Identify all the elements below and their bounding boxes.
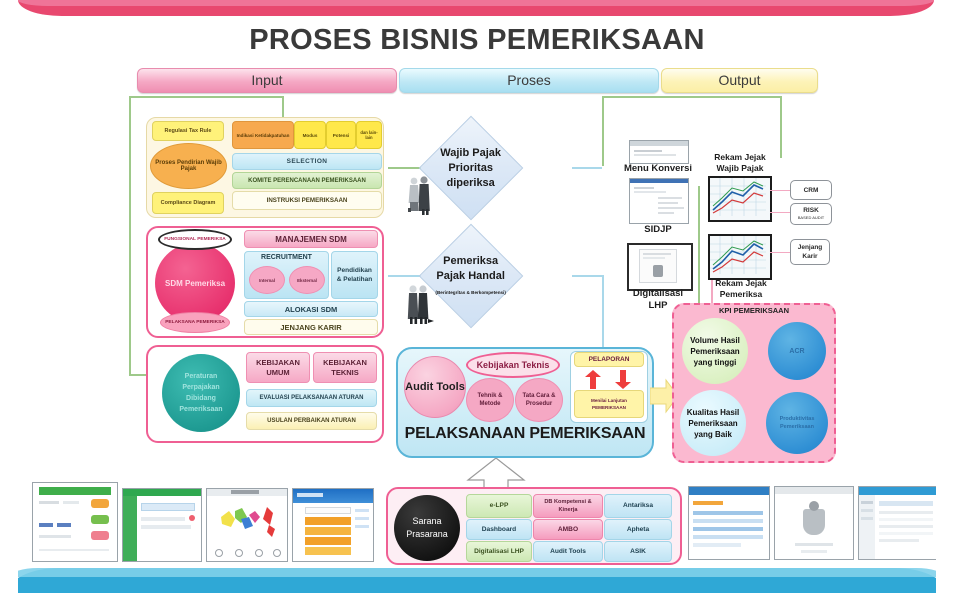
rekam-pemeriksa-line2: Pemeriksa xyxy=(720,289,763,299)
jenjang-output-line2: Karir xyxy=(802,252,817,261)
tool-label: e-LPP xyxy=(490,502,509,510)
input-komite-label: KOMITE PERENCANAAN PEMERIKSAAN xyxy=(248,178,366,184)
risk-label: RISK xyxy=(803,207,819,214)
audit-tools-label: Audit Tools xyxy=(405,380,465,394)
left-margin xyxy=(0,0,18,593)
tool-label: Antariksa xyxy=(623,502,653,510)
bottom-ribbon-highlight xyxy=(10,568,944,577)
diamond1-line1: Wajib Pajak xyxy=(441,147,502,159)
screenshot-strip-right xyxy=(688,482,938,564)
tool-box-db-kompetensi-kinerja[interactable]: DB Kompetensi & Kinerja xyxy=(533,494,603,518)
kebijakan-teknis-box[interactable]: KEBIJAKAN TEKNIS xyxy=(313,352,377,383)
up-arrow-to-pelaksanaan xyxy=(466,458,526,488)
thumbnail-digitalisasi-lhp[interactable] xyxy=(627,243,693,291)
input-compliance-box[interactable]: Compliance Diagram xyxy=(152,192,224,214)
input-indikasi-box[interactable]: Indikasi Ketidakpatuhan xyxy=(232,121,294,149)
connector-left-vertical xyxy=(129,96,131,376)
connector-to-crm xyxy=(770,190,790,191)
recruitment-label: RECRUITMENT xyxy=(261,254,312,261)
input-komite-row[interactable]: KOMITE PERENCANAAN PEMERIKSAAN xyxy=(232,172,382,189)
recruitment-internal-circle[interactable]: Internal xyxy=(249,266,285,294)
column-header-proses[interactable]: Proses xyxy=(399,68,659,93)
chart-thumbnail-rekam-wp[interactable] xyxy=(708,176,772,222)
tool-label: Dashboard xyxy=(482,526,516,534)
connector-proses-top-down xyxy=(602,96,604,166)
input-indikasi-label: Indikasi Ketidakpatuhan xyxy=(237,133,290,138)
evaluasi-aturan-box[interactable]: EVALUASI PELAKSANAAN ATURAN xyxy=(246,389,377,407)
connector-to-risk xyxy=(770,212,790,213)
tool-box-asik[interactable]: ASIK xyxy=(604,541,672,562)
recruitment-eksternal-circle[interactable]: Eksternal xyxy=(289,266,325,294)
input-dan-lain-lain-label: dan lain-lain xyxy=(357,130,381,140)
connector-output-top xyxy=(780,96,782,158)
risk-sub-label: BASED AUDIT xyxy=(798,214,824,221)
connector-diamond2-out xyxy=(572,275,604,277)
thumbnail-sidjp[interactable] xyxy=(629,178,689,224)
kpi-produktivitas-label: Produktivitas Pemeriksaan xyxy=(772,415,822,431)
app-screenshot-table[interactable] xyxy=(858,486,940,560)
tata-cara-prosedur-label: Tata Cara & Prosedur xyxy=(516,392,562,408)
pendidikan-pelatihan-label: Pendidikan & Pelatihan xyxy=(334,266,375,284)
page-title: PROSES BISNIS PEMERIKSAAN xyxy=(0,24,954,57)
sdm-pemeriksa-circle[interactable]: SDM Pemeriksa xyxy=(155,243,235,323)
tool-box-e-lpp[interactable]: e-LPP xyxy=(466,494,532,518)
jenjang-output-line1: Jenjang xyxy=(798,243,823,252)
input-regulasi-box[interactable]: Regulasi Tax Rule xyxy=(152,121,224,141)
kebijakan-umum-label: KEBIJAKAN UMUM xyxy=(247,358,309,378)
column-header-output[interactable]: Output xyxy=(661,68,818,93)
input-instruksi-label: INSTRUKSI PEMERIKSAAN xyxy=(267,197,348,204)
sarana-line2: Prasarana xyxy=(406,529,448,539)
input-instruksi-row[interactable]: INSTRUKSI PEMERIKSAAN xyxy=(232,191,382,210)
kebijakan-teknis-label: KEBIJAKAN TEKNIS xyxy=(314,358,376,378)
pelaporan-arrows-icon xyxy=(582,370,636,390)
diamond2-line2: Pajak Handal xyxy=(437,270,505,282)
input-selection-label: SELECTION xyxy=(287,158,328,165)
connector-top-left xyxy=(129,96,284,98)
tool-label: Audit Tools xyxy=(550,548,586,556)
app-screenshot-dashboard[interactable] xyxy=(32,482,118,562)
alokasi-sdm-box[interactable]: ALOKASI SDM xyxy=(244,301,378,317)
slide-canvas: PROSES BISNIS PEMERIKSAAN Input Proses O… xyxy=(0,0,954,593)
input-proses-pendirian-ellipse[interactable]: Proses Pendirian Wajib Pajak xyxy=(150,143,227,189)
rekam-pemeriksa-line1: Rekam Jejak xyxy=(715,278,767,288)
kpi-kualitas-label: Kualitas Hasil Pemeriksaan yang Baik xyxy=(684,407,742,440)
tools-grid: e-LPPDB Kompetensi & KinerjaAntariksaDas… xyxy=(466,494,676,561)
recruitment-internal-label: Internal xyxy=(259,278,275,283)
kebijakan-teknis-ellipse[interactable]: Kebijakan Teknis xyxy=(466,352,560,378)
input-regulasi-label: Regulasi Tax Rule xyxy=(165,128,212,134)
jenjang-karir-output-box[interactable]: Jenjang Karir xyxy=(790,239,830,265)
tool-label: AMBO xyxy=(558,526,578,534)
manajemen-sdm-header[interactable]: MANAJEMEN SDM xyxy=(244,230,378,248)
pelaksanaan-footer-label: PELAKSANAAN PEMERIKSAAN xyxy=(396,425,654,443)
kpi-produktivitas-circle[interactable]: Produktivitas Pemeriksaan xyxy=(766,392,828,454)
tehnik-metode-circle[interactable]: Tehnik & Metode xyxy=(466,378,514,422)
people-icon-negotiation xyxy=(406,175,432,215)
kebijakan-umum-box[interactable]: KEBIJAKAN UMUM xyxy=(246,352,310,383)
diamond2-sublabel: (Berintegritas & Berkompetensi) xyxy=(436,289,506,296)
recruitment-eksternal-label: Eksternal xyxy=(297,278,317,283)
crm-label: CRM xyxy=(804,187,819,194)
screenshot-strip-left xyxy=(32,482,382,564)
thumbnail-menu-konversi[interactable] xyxy=(629,140,689,164)
sidjp-label: SIDJP xyxy=(629,224,687,235)
rekam-jejak-wp-label: Rekam Jejak Wajib Pajak xyxy=(700,152,780,174)
tehnik-metode-label: Tehnik & Metode xyxy=(467,392,513,408)
tool-box-antariksa[interactable]: Antariksa xyxy=(604,494,672,518)
connector-down-to-group1 xyxy=(282,96,284,118)
connector-output-top-h xyxy=(602,96,782,98)
pelaporan-sub2-label: PEMERIKSAAN xyxy=(592,404,626,411)
right-margin xyxy=(936,0,954,593)
column-header-input[interactable]: Input xyxy=(137,68,397,93)
fungsional-pemeriksa-badge[interactable]: FUNGSIONAL PEMERIKSA xyxy=(158,229,232,250)
diamond2-line1: Pemeriksa xyxy=(443,255,498,267)
top-ribbon-highlight xyxy=(18,0,934,6)
crm-box[interactable]: CRM xyxy=(790,180,832,200)
menu-konversi-label: Menu Konversi xyxy=(612,163,704,174)
kpi-volume-circle[interactable]: Volume Hasil Pemeriksaan yang tinggi xyxy=(682,318,748,384)
kpi-header-label: KPI PEMERIKSAAN xyxy=(672,306,836,315)
kpi-volume-label: Volume Hasil Pemeriksaan yang tinggi xyxy=(686,335,744,368)
chart-thumbnail-rekam-pemeriksa[interactable] xyxy=(708,234,772,280)
pendidikan-pelatihan-box[interactable]: Pendidikan & Pelatihan xyxy=(331,251,378,299)
tool-box-dashboard[interactable]: Dashboard xyxy=(466,519,532,540)
tool-box-audit-tools[interactable]: Audit Tools xyxy=(533,541,603,562)
kpi-acr-label: ACR xyxy=(789,348,804,355)
kpi-acr-circle[interactable]: ACR xyxy=(768,322,826,380)
tool-label: Apheta xyxy=(627,526,649,534)
kpi-kualitas-circle[interactable]: Kualitas Hasil Pemeriksaan yang Baik xyxy=(680,390,746,456)
connector-to-jenjang xyxy=(770,252,790,253)
input-proses-pendirian-label: Proses Pendirian Wajib Pajak xyxy=(153,160,224,172)
tool-box-apheta[interactable]: Apheta xyxy=(604,519,672,540)
audit-tools-circle[interactable]: Audit Tools xyxy=(404,356,466,418)
input-compliance-label: Compliance Diagram xyxy=(161,200,216,206)
usulan-perbaikan-box[interactable]: USULAN PERBAIKAN ATURAN xyxy=(246,412,377,430)
sarana-line1: Sarana xyxy=(412,516,441,526)
rekam-wp-line2: Wajib Pajak xyxy=(717,163,764,173)
connector-diamond2-down xyxy=(602,275,604,350)
jenjang-karir-box[interactable]: JENJANG KARIR xyxy=(244,319,378,335)
connector-diamond1-out xyxy=(572,167,602,169)
input-potensi-label: Potensi xyxy=(333,133,350,138)
tool-label: DB Kompetensi & Kinerja xyxy=(535,498,601,514)
tool-box-ambo[interactable]: AMBO xyxy=(533,519,603,540)
digitalisasi-lhp-line1: Digitalisasi xyxy=(633,288,683,299)
app-screenshot-detail[interactable] xyxy=(774,486,854,560)
tool-label: ASIK xyxy=(630,548,646,556)
rekam-jejak-pemeriksa-label: Rekam Jejak Pemeriksa xyxy=(700,278,782,300)
pelaksana-pemeriksa-label: PELAKSANA PEMERIKSA xyxy=(165,320,225,326)
pelaporan-sub-box[interactable]: Menilai Lanjutan PEMERIKSAAN xyxy=(574,390,644,418)
sdm-pemeriksa-label: SDM Pemeriksa xyxy=(165,278,225,289)
jenjang-karir-label: JENJANG KARIR xyxy=(280,323,341,332)
risk-box[interactable]: RISK BASED AUDIT xyxy=(790,203,832,225)
manajemen-sdm-label: MANAJEMEN SDM xyxy=(275,235,347,244)
rekam-wp-line1: Rekam Jejak xyxy=(714,152,766,162)
alokasi-sdm-label: ALOKASI SDM xyxy=(285,305,338,314)
sarana-prasarana-circle[interactable]: Sarana Prasarana xyxy=(394,495,460,561)
input-potensi-box[interactable]: Potensi xyxy=(326,121,356,149)
people-icon-team xyxy=(406,283,436,325)
pelaporan-header[interactable]: PELAPORAN xyxy=(574,352,644,367)
input-selection-row[interactable]: SELECTION xyxy=(232,153,382,170)
input-modus-label: Modus xyxy=(303,133,318,138)
digitalisasi-lhp-line2: LHP xyxy=(649,300,668,311)
fungsional-pemeriksa-label: FUNGSIONAL PEMERIKSA xyxy=(164,237,225,243)
peraturan-perpajakan-circle[interactable]: Peraturan Perpajakan Dibidang Pemeriksaa… xyxy=(162,354,240,432)
thumb-titlebar xyxy=(630,141,688,146)
evaluasi-aturan-label: EVALUASI PELAKSANAAN ATURAN xyxy=(260,395,364,401)
tool-label: Digitalisasi LHP xyxy=(474,548,524,556)
input-modus-box[interactable]: Modus xyxy=(294,121,326,149)
app-screenshot-report[interactable] xyxy=(292,488,374,562)
diamond-wajib-pajak-prioritas[interactable]: Wajib Pajak Prioritas diperiksa xyxy=(419,116,524,221)
pelaporan-sub1-label: Menilai Lanjutan xyxy=(591,397,627,404)
pelaporan-label: PELAPORAN xyxy=(589,356,630,363)
app-screenshot-map[interactable] xyxy=(206,488,288,562)
pelaksana-pemeriksa-badge[interactable]: PELAKSANA PEMERIKSA xyxy=(160,312,230,333)
tata-cara-prosedur-circle[interactable]: Tata Cara & Prosedur xyxy=(515,378,563,422)
diamond1-line2: Prioritas xyxy=(449,162,494,174)
tool-box-digitalisasi-lhp[interactable]: Digitalisasi LHP xyxy=(466,541,532,562)
diamond1-line3: diperiksa xyxy=(447,177,495,189)
peraturan-perpajakan-label: Peraturan Perpajakan Dibidang Pemeriksaa… xyxy=(168,371,234,415)
usulan-perbaikan-label: USULAN PERBAIKAN ATURAN xyxy=(267,418,356,424)
input-dan-lain-lain-box[interactable]: dan lain-lain xyxy=(356,121,382,149)
app-screenshot-form[interactable] xyxy=(122,488,202,562)
app-screenshot-list[interactable] xyxy=(688,486,770,560)
kebijakan-teknis-ellipse-label: Kebijakan Teknis xyxy=(477,360,550,370)
thumb-titlebar xyxy=(630,179,688,183)
